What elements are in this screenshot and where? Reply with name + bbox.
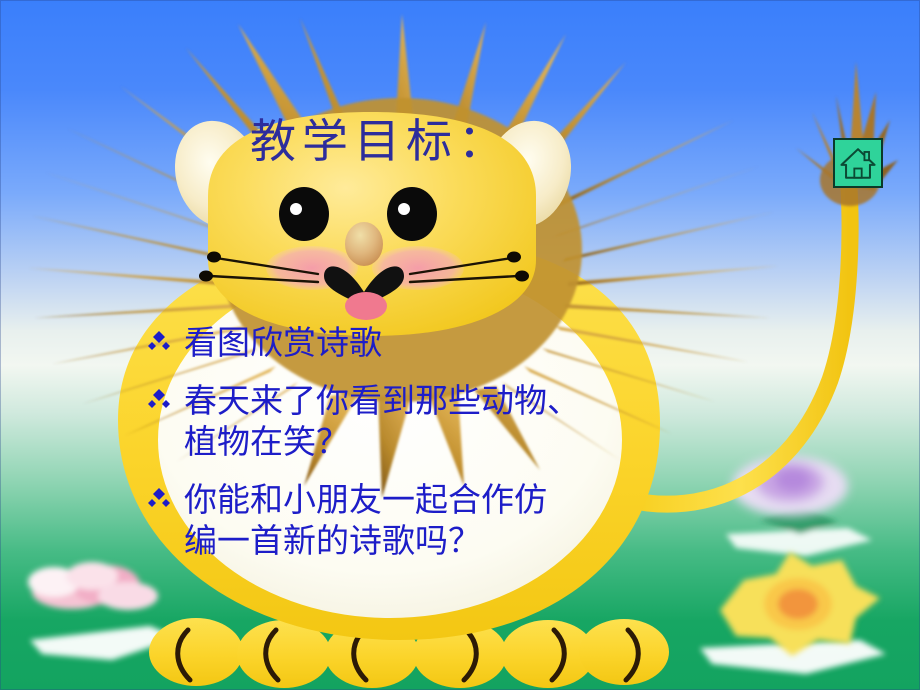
lion-nose: [345, 222, 383, 266]
lotus-flower-pink: [28, 562, 158, 610]
slide-title: 教学目标：: [250, 118, 510, 164]
list-item: 看图欣赏诗歌: [146, 322, 706, 364]
bullet-list: 看图欣赏诗歌 春天来了你看到那些动物、 植物在笑？ 你能和小: [146, 322, 706, 578]
diamond-bullet-icon: [148, 487, 170, 509]
bullet-line: 植物在笑？: [184, 421, 706, 463]
list-item: 你能和小朋友一起合作仿 编一首新的诗歌吗？: [146, 479, 706, 562]
home-button[interactable]: [833, 138, 883, 188]
lion-tongue: [345, 292, 387, 320]
slide-canvas: 教学目标： 看图欣赏诗歌 春天来了你看到那些动物、 植物: [0, 0, 920, 690]
diamond-bullet-icon: [148, 330, 170, 352]
bullet-line: 编一首新的诗歌吗？: [184, 520, 706, 562]
bullet-line: 看图欣赏诗歌: [184, 322, 706, 364]
diamond-bullet-icon: [148, 388, 170, 410]
home-icon: [835, 140, 881, 186]
bullet-line: 你能和小朋友一起合作仿: [184, 479, 706, 521]
list-item: 春天来了你看到那些动物、 植物在笑？: [146, 380, 706, 463]
bullet-line: 春天来了你看到那些动物、: [184, 380, 706, 422]
